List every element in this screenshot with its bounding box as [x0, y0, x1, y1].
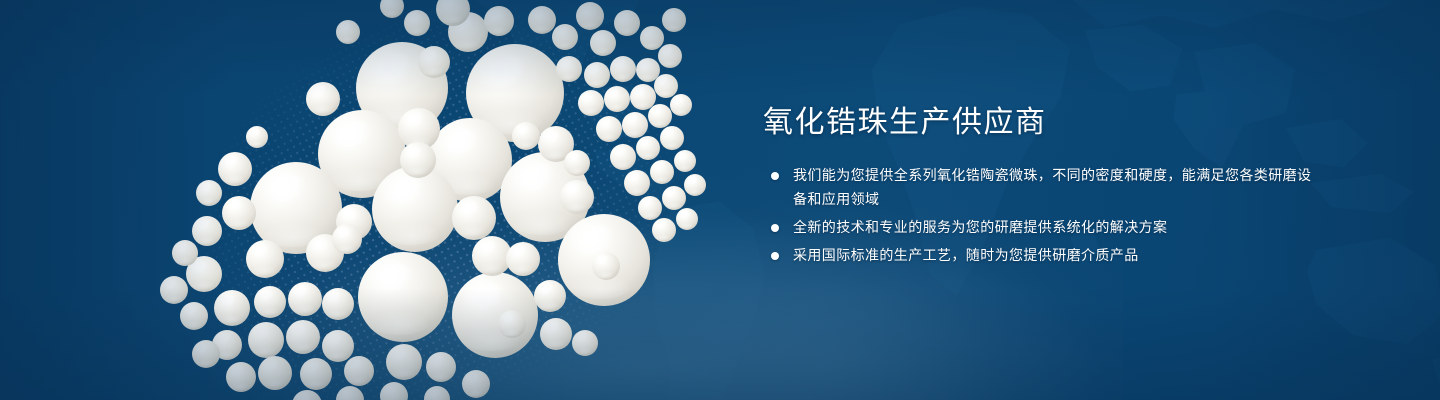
list-item: 全新的技术和专业的服务为您的研磨提供系统化的解决方案 [763, 216, 1323, 240]
bullet-dot-icon [771, 224, 779, 232]
hero-banner: 氧化锆珠生产供应商 我们能为您提供全系列氧化锆陶瓷微珠，不同的密度和硬度，能满足… [0, 0, 1440, 400]
list-item: 我们能为您提供全系列氧化锆陶瓷微珠，不同的密度和硬度，能满足您各类研磨设备和应用… [763, 164, 1323, 212]
bullet-dot-icon [771, 172, 779, 180]
banner-content: 氧化锆珠生产供应商 我们能为您提供全系列氧化锆陶瓷微珠，不同的密度和硬度，能满足… [763, 104, 1323, 268]
bullet-dot-icon [771, 252, 779, 260]
list-item: 采用国际标准的生产工艺，随时为您提供研磨介质产品 [763, 244, 1323, 268]
list-item-label: 我们能为您提供全系列氧化锆陶瓷微珠，不同的密度和硬度，能满足您各类研磨设备和应用… [793, 164, 1323, 212]
page-title: 氧化锆珠生产供应商 [763, 104, 1323, 142]
feature-list: 我们能为您提供全系列氧化锆陶瓷微珠，不同的密度和硬度，能满足您各类研磨设备和应用… [763, 164, 1323, 268]
list-item-label: 全新的技术和专业的服务为您的研磨提供系统化的解决方案 [793, 216, 1323, 240]
list-item-label: 采用国际标准的生产工艺，随时为您提供研磨介质产品 [793, 244, 1323, 268]
